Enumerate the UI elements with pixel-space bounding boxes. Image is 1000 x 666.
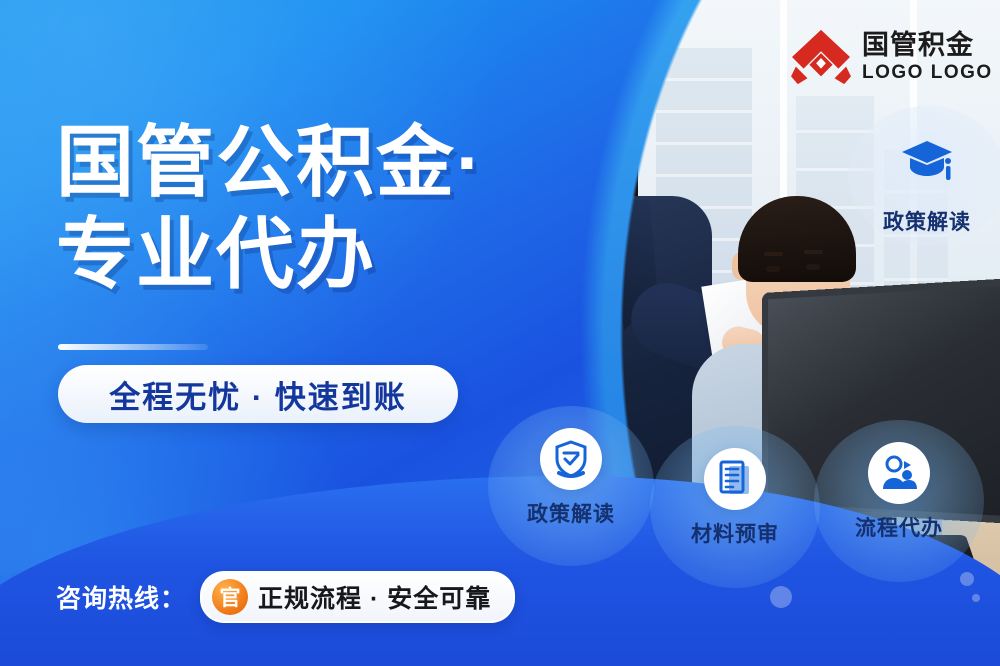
decor-dot xyxy=(960,572,974,586)
feature-policy-bottom[interactable]: 政策解读 xyxy=(512,428,630,528)
feature-label: 政策解读 xyxy=(883,206,971,236)
headline-line-1: 国管公积金· xyxy=(56,116,526,208)
feature-label: 政策解读 xyxy=(527,498,615,528)
red-chevron-roof-mark xyxy=(790,28,852,86)
feature-policy-top[interactable]: 政策解读 xyxy=(862,124,992,236)
decor-dot xyxy=(972,594,980,602)
woman-lips xyxy=(598,152,618,161)
subtitle-pill-text: 全程无忧 · 快速到账 xyxy=(109,372,407,417)
hotline-pill[interactable]: 官 正规流程 · 安全可靠 xyxy=(200,571,515,623)
feature-label: 材料预审 xyxy=(691,518,779,548)
subtitle-pill: 全程无忧 · 快速到账 xyxy=(58,365,458,423)
hotline-pill-text: 正规流程 · 安全可靠 xyxy=(258,579,491,615)
feature-materials[interactable]: 材料预审 xyxy=(674,448,796,548)
users-group-icon xyxy=(868,442,930,504)
brand-logo[interactable]: 国管积金 LOGO LOGO xyxy=(790,28,993,86)
feature-label: 流程代办 xyxy=(855,512,943,542)
promo-banner: 国管积金 LOGO LOGO 国管公积金· 专业代办 全程无忧 · 快速到账 咨… xyxy=(0,0,1000,666)
hotline-label: 咨询热线： xyxy=(56,579,186,615)
headline-block: 国管公积金· 专业代办 xyxy=(56,116,526,300)
feature-process[interactable]: 流程代办 xyxy=(838,442,960,542)
logo-name-en: LOGO LOGO xyxy=(862,63,993,82)
official-badge-icon: 官 xyxy=(212,579,248,615)
shield-check-icon xyxy=(540,428,602,490)
logo-name-cn: 国管积金 xyxy=(862,32,993,59)
decor-dot xyxy=(770,586,792,608)
logo-text-block: 国管积金 LOGO LOGO xyxy=(862,32,993,82)
hotline-row: 咨询热线： 官 正规流程 · 安全可靠 xyxy=(56,571,515,623)
headline-line-2: 专业代办 xyxy=(56,208,526,300)
graduation-cap-info-icon xyxy=(890,124,964,198)
headline-divider xyxy=(58,344,208,350)
document-list-icon xyxy=(704,448,766,510)
